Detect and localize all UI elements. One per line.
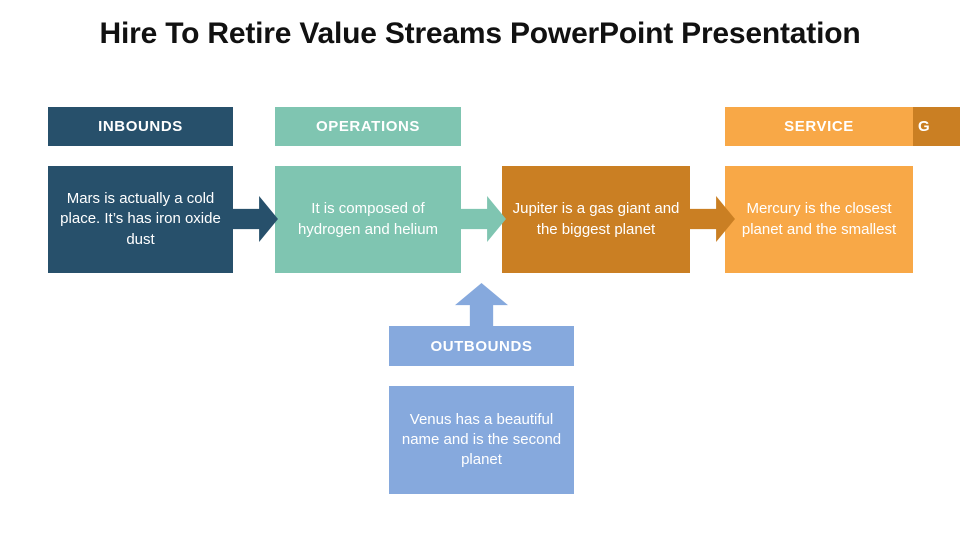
header-label-offslide-partial: G <box>918 118 930 135</box>
header-bar-inbounds[interactable]: INBOUNDS <box>48 107 233 146</box>
content-text-inbounds: Mars is actually a cold place. It’s has … <box>58 189 223 250</box>
header-label-inbounds: INBOUNDS <box>98 118 183 135</box>
arrow-up-icon-outbounds <box>455 283 508 331</box>
slide-canvas: Hire To Retire Value Streams PowerPoint … <box>0 0 960 540</box>
content-box-operations[interactable]: It is composed of hydrogen and helium <box>275 166 461 273</box>
content-box-service[interactable]: Mercury is the closest planet and the sm… <box>725 166 913 273</box>
content-box-outbounds[interactable]: Venus has a beautiful name and is the se… <box>389 386 574 494</box>
content-box-inbounds[interactable]: Mars is actually a cold place. It’s has … <box>48 166 233 273</box>
content-text-service: Mercury is the closest planet and the sm… <box>735 199 903 240</box>
content-box-gas-giant[interactable]: Jupiter is a gas giant and the biggest p… <box>502 166 690 273</box>
content-text-outbounds: Venus has a beautiful name and is the se… <box>399 410 564 471</box>
header-label-outbounds: OUTBOUNDS <box>430 338 532 355</box>
content-text-gas-giant: Jupiter is a gas giant and the biggest p… <box>512 199 680 240</box>
content-text-operations: It is composed of hydrogen and helium <box>285 199 451 240</box>
header-label-operations: OPERATIONS <box>316 118 420 135</box>
page-title: Hire To Retire Value Streams PowerPoint … <box>90 14 870 53</box>
header-bar-operations[interactable]: OPERATIONS <box>275 107 461 146</box>
arrow-right-icon-operations-to-gas-giant <box>461 196 506 242</box>
header-bar-outbounds[interactable]: OUTBOUNDS <box>389 326 574 366</box>
header-bar-offslide-partial[interactable]: G <box>913 107 960 146</box>
header-bar-service[interactable]: SERVICE <box>725 107 913 146</box>
arrow-right-icon-inbounds-to-operations <box>233 196 278 242</box>
header-label-service: SERVICE <box>784 118 854 135</box>
